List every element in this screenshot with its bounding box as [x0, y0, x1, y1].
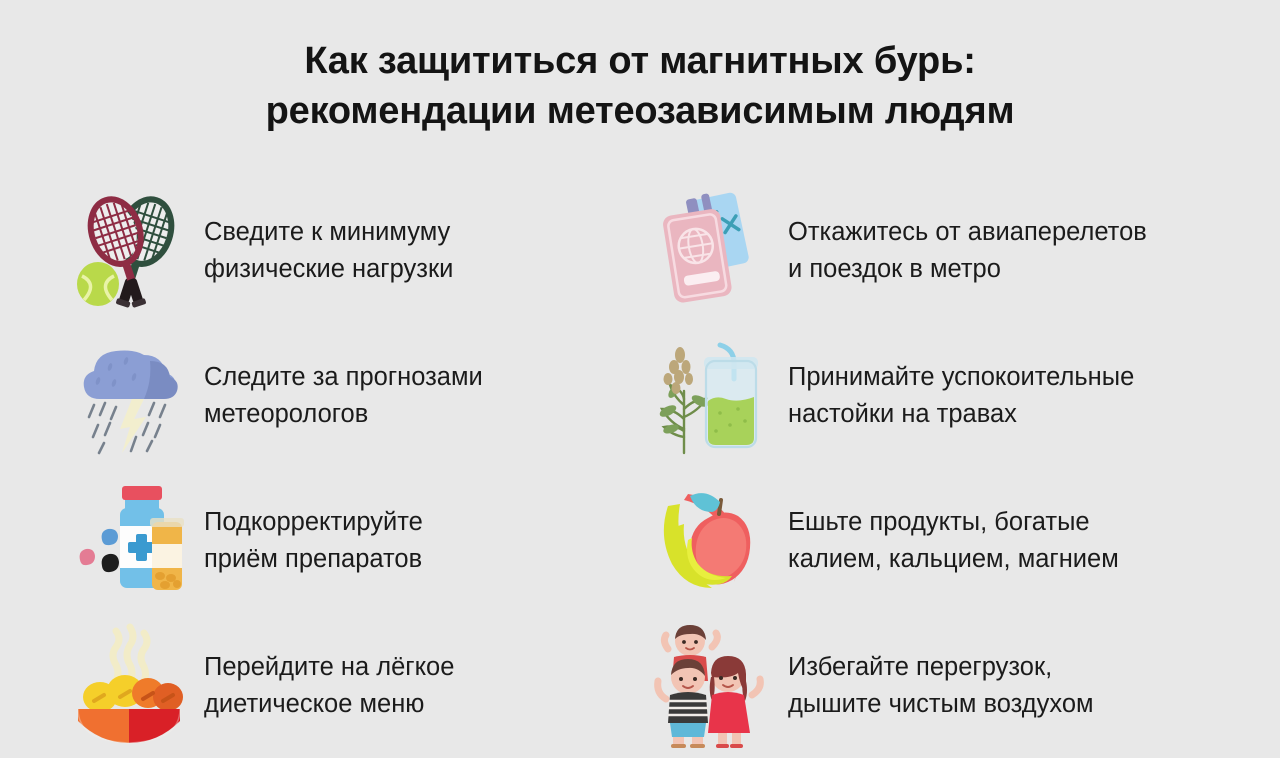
children-icon	[650, 623, 768, 748]
recommendation-text-4: Принимайте успокоительные настойки на тр…	[788, 359, 1134, 431]
page-title-line-2: рекомендации метеозависимым людям	[0, 86, 1280, 136]
food-bowl-icon	[70, 623, 188, 748]
recommendation-text-1: Сведите к минимуму физические нагрузки	[204, 214, 453, 286]
recommendation-item-6: Ешьте продукты, богатые калием, кальцием…	[620, 468, 1250, 613]
page-title-line-1: Как защититься от магнитных бурь:	[0, 36, 1280, 86]
rain-cloud-icon	[70, 333, 188, 458]
passport-tickets-icon	[650, 188, 768, 313]
recommendation-text-5: Подкорректируйте приём препаратов	[204, 504, 423, 576]
tennis-rackets-icon	[70, 188, 188, 313]
banana-apple-icon	[650, 478, 768, 603]
recommendation-item-4: Принимайте успокоительные настойки на тр…	[620, 323, 1250, 468]
recommendation-text-8: Избегайте перегрузок, дышите чистым возд…	[788, 649, 1094, 721]
medicine-bottles-icon	[70, 478, 188, 603]
recommendation-item-5: Подкорректируйте приём препаратов	[0, 468, 620, 613]
recommendation-text-3: Следите за прогнозами метеорологов	[204, 359, 483, 431]
recommendation-item-2: Откажитесь от авиаперелетов и поездок в …	[620, 178, 1250, 323]
recommendations-grid: Сведите к минимуму физические нагрузки	[0, 178, 1280, 758]
recommendation-item-3: Следите за прогнозами метеорологов	[0, 323, 620, 468]
recommendation-text-2: Откажитесь от авиаперелетов и поездок в …	[788, 214, 1147, 286]
recommendation-item-7: Перейдите на лёгкое диетическое меню	[0, 613, 620, 758]
page-title: Как защититься от магнитных бурь: рекоме…	[0, 36, 1280, 136]
recommendation-text-7: Перейдите на лёгкое диетическое меню	[204, 649, 454, 721]
herbal-drink-icon	[650, 333, 768, 458]
recommendation-item-1: Сведите к минимуму физические нагрузки	[0, 178, 620, 323]
recommendation-icon-8-wrap: Избегайте перегрузок, дышите чистым возд…	[620, 613, 1250, 758]
recommendation-text-6: Ешьте продукты, богатые калием, кальцием…	[788, 504, 1119, 576]
